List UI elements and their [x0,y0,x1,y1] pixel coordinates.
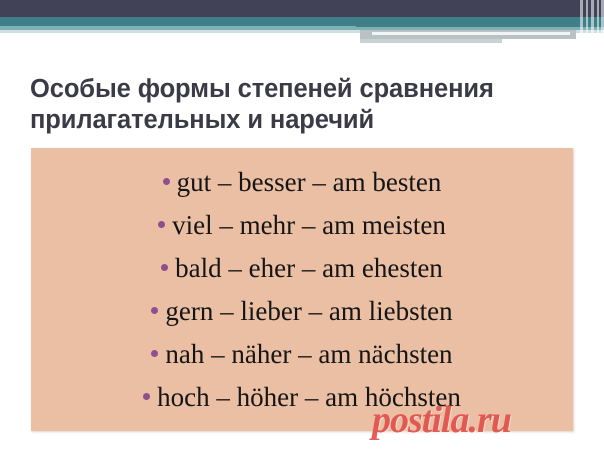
list-item: viel – mehr – am meisten [31,204,573,247]
header-accent-bar-teal [356,17,604,27]
list-item-text: nah – näher – am nächsten [165,339,452,369]
list-item-text: gern – lieber – am liebsten [165,296,452,326]
header-vertical-stripe [591,0,594,47]
bullet-icon [151,350,158,357]
slide-title-line-1: Особые формы степеней сравнения [30,74,576,105]
list-item-text: viel – mehr – am meisten [172,210,446,240]
header-vertical-stripe [597,0,599,47]
header-dark-band [0,0,604,17]
list-item-text: gut – besser – am besten [177,167,442,197]
site-watermark: postila.ru [372,398,511,442]
bullet-icon [158,221,165,228]
header-vertical-stripe [580,0,583,47]
header-accent-bar-white [372,32,570,35]
header-vertical-stripe [586,0,588,47]
list-item: gut – besser – am besten [31,161,573,204]
list-item: bald – eher – am ehesten [31,247,573,290]
bullet-icon [143,393,150,400]
list-item-text: bald – eher – am ehesten [175,253,443,283]
content-panel: gut – besser – am besten viel – mehr – a… [31,148,573,431]
header-accent-bar-gray-secondary [360,39,502,43]
slide-title-line-2: прилагательных и наречий [30,105,576,136]
comparative-forms-list: gut – besser – am besten viel – mehr – a… [31,148,573,419]
bullet-icon [163,178,170,185]
bullet-icon [151,307,158,314]
slide-canvas: Особые формы степеней сравнения прилагат… [0,0,604,453]
slide-title: Особые формы степеней сравнения прилагат… [30,74,576,136]
list-item: gern – lieber – am liebsten [31,290,573,333]
bullet-icon [161,264,168,271]
list-item: nah – näher – am nächsten [31,333,573,376]
